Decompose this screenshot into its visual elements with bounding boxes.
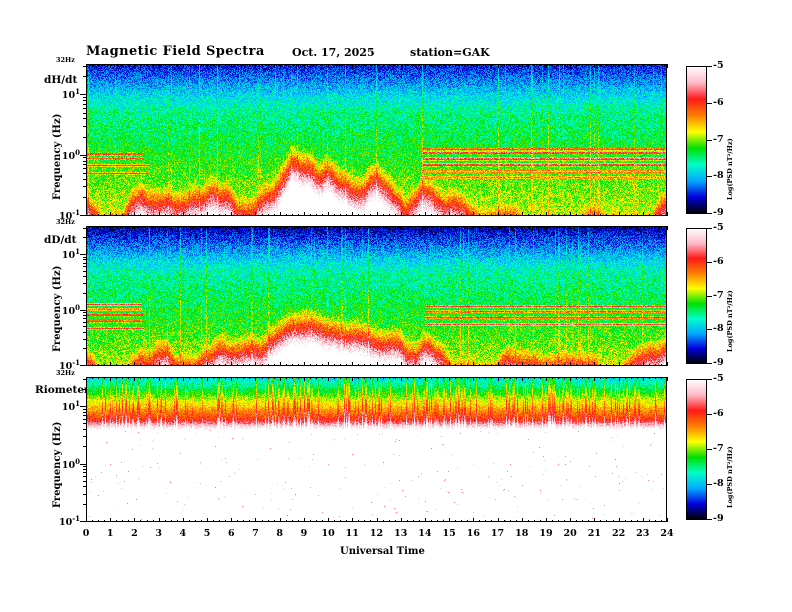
panel-1-xtick-minor	[316, 64, 317, 66]
panel-2-xtick-minor	[600, 226, 601, 228]
panel-3-xtick-minor	[655, 520, 656, 522]
panel-3-xtick-minor	[643, 377, 644, 379]
panel-1-ytick-major	[80, 94, 86, 95]
panel-2-xtick-minor	[322, 364, 323, 366]
panel-2-xtick-minor	[407, 226, 408, 228]
panel-3-xtick-minor	[528, 377, 529, 379]
panel-2-xtick-minor	[292, 364, 293, 366]
colorbar-3-tick	[707, 519, 712, 520]
panel-2-xtick-minor	[86, 364, 87, 366]
panel-3-xtick-minor	[600, 377, 601, 379]
panel-2-xtick-minor	[564, 364, 565, 366]
x-tick-label: 20	[560, 528, 580, 539]
panel-2-ytick-minor	[83, 348, 86, 349]
panel-1-xtick-minor	[364, 64, 365, 66]
panel-1-xtick-minor	[425, 214, 426, 216]
panel-3-xtick-minor	[219, 520, 220, 522]
panel-1-xtick-minor	[576, 64, 577, 66]
panel-3-xtick-minor	[479, 520, 480, 522]
panel-2-ytick-minor	[83, 263, 86, 264]
panel-3-xtick-minor	[661, 520, 662, 522]
panel-3-xtick-minor	[570, 377, 571, 379]
panel-3-xtick-minor	[413, 377, 414, 379]
panel-2-ytick-minor	[83, 271, 86, 272]
colorbar-3-tick	[707, 449, 712, 450]
panel-2-xtick-minor	[461, 364, 462, 366]
panel-2-xtick-minor	[128, 364, 129, 366]
colorbar-1-tick-label: -5	[713, 60, 724, 71]
panel-3-xtick-minor	[637, 377, 638, 379]
panel-1-xtick-minor	[358, 214, 359, 216]
panel-3-xtick-minor	[207, 377, 208, 379]
panel-1-xtick-minor	[207, 214, 208, 216]
panel-2-xtick-minor	[249, 364, 250, 366]
panel-1-xtick-minor	[401, 214, 402, 216]
panel-3-xtick-minor	[546, 520, 547, 522]
panel-2-xtick-minor	[92, 364, 93, 366]
panel-1-colorbar-frame	[686, 66, 707, 214]
panel-1-xtick-minor	[383, 214, 384, 216]
panel-3-xtick-minor	[370, 377, 371, 379]
panel-3-xtick-minor	[116, 377, 117, 379]
colorbar-1-tick	[707, 213, 712, 214]
panel-1-xtick-minor	[576, 214, 577, 216]
panel-2-xtick-minor	[667, 226, 668, 228]
panel-1-xtick-minor	[558, 64, 559, 66]
panel-2-ytick-label: 100	[56, 303, 80, 317]
x-tick-label: 8	[270, 528, 290, 539]
panel-2-xtick-minor	[116, 364, 117, 366]
panel-3-xtick-minor	[153, 520, 154, 522]
panel-3-xtick-minor	[316, 377, 317, 379]
panel-3-xtick-minor	[122, 520, 123, 522]
panel-3-xtick-minor	[358, 377, 359, 379]
panel-3-xtick-minor	[286, 377, 287, 379]
panel-1-frame	[86, 64, 667, 216]
panel-1-xtick-minor	[498, 64, 499, 66]
panel-3-xtick-minor	[140, 377, 141, 379]
panel-1-xtick-minor	[643, 214, 644, 216]
panel-3-xtick-minor	[201, 377, 202, 379]
panel-2-xtick-minor	[225, 364, 226, 366]
panel-3-xtick-minor	[443, 377, 444, 379]
panel-3-xtick-minor	[280, 520, 281, 522]
panel-1-xtick-minor	[540, 64, 541, 66]
panel-3-ytick-minor	[83, 415, 86, 416]
panel-2-xtick-minor	[443, 364, 444, 366]
panel-2-xtick-minor	[140, 364, 141, 366]
panel-2-xtick-minor	[268, 226, 269, 228]
panel-1-xtick-minor	[600, 214, 601, 216]
panel-2-xtick-minor	[431, 226, 432, 228]
panel-3-xtick-minor	[104, 377, 105, 379]
panel-1-xtick-minor	[467, 64, 468, 66]
panel-3-ytick-label: 100	[56, 457, 80, 471]
panel-1-xtick-minor	[528, 214, 529, 216]
panel-1-xtick-minor	[558, 214, 559, 216]
panel-1-xtick-minor	[249, 64, 250, 66]
panel-1-xtick-minor	[298, 214, 299, 216]
panel-1-xtick-minor	[304, 214, 305, 216]
panel-2-xtick-minor	[110, 364, 111, 366]
panel-3-xtick-minor	[352, 520, 353, 522]
panel-2-xtick-minor	[479, 226, 480, 228]
colorbar-3-tick-label: -6	[713, 408, 724, 419]
colorbar-2-tick-label: -5	[713, 222, 724, 233]
panel-3-ytick-minor	[83, 494, 86, 495]
panel-2-xtick-minor	[558, 226, 559, 228]
colorbar-1-tick	[707, 176, 712, 177]
panel-3-xtick-minor	[147, 520, 148, 522]
panel-2-colorbar-frame	[686, 228, 707, 364]
panel-1-xtick-minor	[147, 64, 148, 66]
panel-3-xtick-minor	[582, 520, 583, 522]
panel-2-xtick-minor	[582, 364, 583, 366]
panel-3-xtick-minor	[364, 377, 365, 379]
panel-3-xtick-minor	[510, 520, 511, 522]
panel-2-xtick-minor	[147, 226, 148, 228]
panel-3-xtick-minor	[552, 520, 553, 522]
panel-1-xtick-minor	[540, 214, 541, 216]
panel-2-xtick-minor	[159, 364, 160, 366]
panel-2-xtick-minor	[395, 226, 396, 228]
panel-3-xtick-minor	[122, 377, 123, 379]
panel-3-xtick-minor	[606, 520, 607, 522]
panel-3-xtick-minor	[286, 520, 287, 522]
panel-3-xtick-minor	[631, 377, 632, 379]
x-tick-label: 2	[124, 528, 144, 539]
panel-2-xtick-minor	[498, 226, 499, 228]
panel-1-xtick-minor	[92, 64, 93, 66]
panel-2-xtick-minor	[358, 226, 359, 228]
panel-1-xtick-minor	[594, 214, 595, 216]
panel-3-xtick-minor	[570, 520, 571, 522]
panel-3-xtick-minor	[213, 377, 214, 379]
panel-3-ytick-label: 10-1	[56, 514, 80, 528]
panel-3-xtick-minor	[655, 377, 656, 379]
panel-1-xtick-minor	[491, 214, 492, 216]
colorbar-2-tick	[707, 262, 712, 263]
panel-3-xtick-minor	[322, 520, 323, 522]
panel-2-xtick-minor	[437, 226, 438, 228]
panel-2-xtick-minor	[377, 364, 378, 366]
panel-2-xtick-minor	[370, 226, 371, 228]
panel-3-xtick-minor	[195, 377, 196, 379]
panel-2-ytick-minor	[83, 293, 86, 294]
panel-2-xtick-minor	[625, 226, 626, 228]
panel-1-xtick-minor	[479, 214, 480, 216]
panel-1-xtick-minor	[207, 64, 208, 66]
panel-3-xtick-minor	[419, 520, 420, 522]
panel-1-xtick-minor	[346, 64, 347, 66]
panel-1-xtick-minor	[606, 64, 607, 66]
panel-3-xtick-minor	[667, 520, 668, 522]
panel-1-xtick-minor	[128, 64, 129, 66]
panel-3-xtick-minor	[110, 520, 111, 522]
panel-2-xtick-minor	[491, 226, 492, 228]
panel-3-xtick-minor	[498, 520, 499, 522]
x-tick-label: 19	[536, 528, 556, 539]
panel-3-xtick-minor	[383, 520, 384, 522]
panel-2-xtick-minor	[364, 226, 365, 228]
panel-1-xtick-minor	[606, 214, 607, 216]
panel-2-xtick-minor	[564, 226, 565, 228]
panel-2-xtick-minor	[201, 226, 202, 228]
panel-2-xtick-minor	[86, 226, 87, 228]
panel-3-xtick-minor	[625, 377, 626, 379]
panel-2-xtick-minor	[243, 364, 244, 366]
panel-1-ytick-label: 101	[56, 87, 80, 101]
panel-3-xtick-minor	[177, 520, 178, 522]
colorbar-3-tick	[707, 379, 712, 380]
panel-3-xtick-minor	[177, 377, 178, 379]
panel-2-xtick-minor	[134, 226, 135, 228]
panel-2-xtick-minor	[255, 364, 256, 366]
x-tick-label: 16	[463, 528, 483, 539]
panel-2-xtick-minor	[473, 226, 474, 228]
panel-3-xtick-minor	[195, 520, 196, 522]
panel-2-xtick-minor	[298, 226, 299, 228]
panel-1-xtick-minor	[637, 64, 638, 66]
panel-3-xtick-minor	[147, 377, 148, 379]
panel-3-xtick-minor	[552, 377, 553, 379]
panel-1-nyquist-label: 32Hz	[56, 56, 75, 64]
panel-3-xtick-minor	[86, 377, 87, 379]
panel-1-xtick-minor	[322, 214, 323, 216]
panel-2-xtick-minor	[401, 364, 402, 366]
panel-3-xtick-minor	[449, 520, 450, 522]
panel-3-xtick-minor	[128, 377, 129, 379]
panel-1-xtick-minor	[395, 64, 396, 66]
colorbar-3-tick-label: -8	[713, 478, 724, 489]
panel-2-xtick-minor	[225, 226, 226, 228]
panel-1-xtick-minor	[631, 64, 632, 66]
panel-2-xtick-minor	[389, 226, 390, 228]
panel-1-xtick-minor	[189, 214, 190, 216]
panel-3-xtick-minor	[449, 377, 450, 379]
panel-1-xtick-minor	[619, 214, 620, 216]
panel-3-ytick-minor	[83, 504, 86, 505]
panel-1-ytick-minor	[83, 137, 86, 138]
panel-3-xtick-minor	[262, 520, 263, 522]
panel-1-colorbar-label: Log(PSD nT²/Hz)	[726, 138, 734, 200]
panel-1-ytick-minor	[83, 100, 86, 101]
panel-1-xtick-minor	[86, 64, 87, 66]
panel-1-ytick-minor	[83, 113, 86, 114]
panel-2-xtick-minor	[346, 226, 347, 228]
panel-1-xtick-minor	[449, 214, 450, 216]
panel-2-ytick-minor	[83, 259, 86, 260]
panel-3-xtick-minor	[522, 520, 523, 522]
x-tick-label: 7	[245, 528, 265, 539]
panel-2-xtick-minor	[243, 226, 244, 228]
panel-3-xtick-minor	[274, 377, 275, 379]
panel-1-xtick-minor	[510, 214, 511, 216]
panel-1-xtick-minor	[274, 64, 275, 66]
panel-3-xtick-minor	[594, 520, 595, 522]
panel-2-xtick-minor	[606, 226, 607, 228]
panel-2-xtick-minor	[449, 226, 450, 228]
panel-1-xtick-minor	[122, 64, 123, 66]
panel-2-xtick-minor	[637, 226, 638, 228]
panel-1-xtick-minor	[147, 214, 148, 216]
panel-2-xtick-minor	[516, 364, 517, 366]
panel-2-xtick-minor	[510, 364, 511, 366]
panel-3-xtick-minor	[588, 520, 589, 522]
x-tick-label: 13	[391, 528, 411, 539]
panel-2-xtick-minor	[346, 364, 347, 366]
panel-1-ytick-minor	[83, 104, 86, 105]
panel-3-xtick-minor	[576, 520, 577, 522]
panel-3-xtick-minor	[292, 377, 293, 379]
panel-3-xtick-minor	[249, 520, 250, 522]
colorbar-1-tick-label: -8	[713, 170, 724, 181]
panel-3-xtick-minor	[661, 377, 662, 379]
panel-2-xtick-minor	[588, 364, 589, 366]
x-tick-label: 17	[488, 528, 508, 539]
panel-3-label: Riometer	[35, 384, 90, 396]
x-tick-label: 1	[100, 528, 120, 539]
panel-1-xtick-minor	[286, 64, 287, 66]
panel-1-xtick-minor	[183, 64, 184, 66]
panel-1-xtick-minor	[667, 64, 668, 66]
panel-3-colorbar-frame	[686, 379, 707, 520]
panel-2-xtick-minor	[237, 364, 238, 366]
panel-2-xtick-minor	[213, 364, 214, 366]
panel-3-xtick-minor	[564, 377, 565, 379]
panel-2-xtick-minor	[370, 364, 371, 366]
panel-3-xtick-minor	[588, 377, 589, 379]
panel-1-xtick-minor	[631, 214, 632, 216]
panel-1-xtick-minor	[504, 64, 505, 66]
panel-2-xtick-minor	[292, 226, 293, 228]
panel-1-xtick-minor	[455, 64, 456, 66]
panel-3-xtick-minor	[165, 377, 166, 379]
panel-1-xtick-minor	[661, 64, 662, 66]
panel-2-xtick-minor	[467, 364, 468, 366]
panel-1-xtick-minor	[588, 214, 589, 216]
panel-3-xtick-minor	[231, 377, 232, 379]
panel-2-xtick-minor	[201, 364, 202, 366]
panel-3-xtick-minor	[153, 377, 154, 379]
panel-3-xtick-minor	[322, 377, 323, 379]
panel-3-nyquist-label: 32Hz	[56, 369, 75, 377]
x-tick-label: 12	[367, 528, 387, 539]
panel-2-xtick-minor	[631, 226, 632, 228]
panel-3-ytick-minor	[83, 446, 86, 447]
panel-2-xtick-minor	[649, 364, 650, 366]
panel-3-xtick-minor	[328, 520, 329, 522]
panel-3-xtick-minor	[401, 377, 402, 379]
panel-3-xtick-minor	[255, 520, 256, 522]
panel-2-xtick-minor	[171, 226, 172, 228]
figure-station: station=GAK	[410, 46, 490, 59]
panel-2-xtick-minor	[576, 226, 577, 228]
panel-2-xtick-minor	[473, 364, 474, 366]
panel-3-xtick-minor	[395, 520, 396, 522]
panel-2-xtick-minor	[122, 364, 123, 366]
panel-2-xtick-minor	[92, 226, 93, 228]
panel-1-xtick-minor	[262, 214, 263, 216]
panel-1-xtick-minor	[243, 214, 244, 216]
panel-3-xtick-minor	[280, 377, 281, 379]
panel-1-xtick-minor	[407, 64, 408, 66]
panel-2-xtick-minor	[419, 226, 420, 228]
panel-3-ytick-minor	[83, 423, 86, 424]
panel-3-xtick-minor	[249, 377, 250, 379]
panel-3-xtick-minor	[431, 377, 432, 379]
panel-2-xtick-minor	[540, 226, 541, 228]
panel-3-xtick-minor	[485, 377, 486, 379]
x-tick-label: 10	[318, 528, 338, 539]
panel-2-xtick-minor	[552, 364, 553, 366]
panel-3-xtick-minor	[201, 520, 202, 522]
panel-2-nyquist-label: 32Hz	[56, 218, 75, 226]
panel-2-xtick-minor	[425, 226, 426, 228]
panel-1-xtick-minor	[165, 214, 166, 216]
panel-1-xtick-minor	[625, 214, 626, 216]
panel-2-ytick-minor	[83, 266, 86, 267]
panel-1-xtick-minor	[534, 64, 535, 66]
panel-1-xtick-minor	[637, 214, 638, 216]
panel-2-xtick-minor	[177, 226, 178, 228]
panel-1-xtick-minor	[370, 64, 371, 66]
panel-2-xtick-minor	[189, 226, 190, 228]
panel-1-xtick-minor	[219, 64, 220, 66]
panel-1-xtick-minor	[153, 64, 154, 66]
panel-3-xtick-minor	[370, 520, 371, 522]
panel-3-xtick-minor	[540, 520, 541, 522]
panel-2-xtick-minor	[552, 226, 553, 228]
x-tick-label: 21	[584, 528, 604, 539]
panel-1-xtick-minor	[455, 214, 456, 216]
panel-2-xtick-minor	[546, 364, 547, 366]
panel-2-xtick-minor	[395, 364, 396, 366]
panel-2-ytick-major	[80, 254, 86, 255]
figure-date: Oct. 17, 2025	[292, 46, 375, 59]
panel-3-ytick-minor	[83, 389, 86, 390]
panel-3-xtick-minor	[407, 520, 408, 522]
panel-2-xtick-minor	[383, 364, 384, 366]
panel-2-xtick-minor	[165, 364, 166, 366]
panel-3-ytick-minor	[83, 481, 86, 482]
panel-1-xtick-minor	[116, 64, 117, 66]
panel-2-xtick-minor	[613, 226, 614, 228]
panel-2-ytick-minor	[83, 332, 86, 333]
x-tick-label: 14	[415, 528, 435, 539]
panel-1-xtick-minor	[310, 214, 311, 216]
panel-1-xtick-minor	[340, 64, 341, 66]
panel-1-xtick-minor	[298, 64, 299, 66]
panel-3-xtick-minor	[504, 377, 505, 379]
panel-1-xtick-minor	[340, 214, 341, 216]
panel-2-xtick-minor	[219, 226, 220, 228]
panel-1-xtick-minor	[153, 214, 154, 216]
panel-3-xtick-minor	[619, 377, 620, 379]
panel-2-xtick-minor	[510, 226, 511, 228]
panel-3-xtick-minor	[98, 377, 99, 379]
panel-1-xtick-minor	[98, 214, 99, 216]
panel-1-xtick-minor	[249, 214, 250, 216]
panel-3-xtick-minor	[183, 377, 184, 379]
panel-3-xtick-minor	[334, 377, 335, 379]
panel-2-xtick-minor	[661, 364, 662, 366]
panel-1-xtick-minor	[213, 214, 214, 216]
panel-3-xtick-minor	[171, 520, 172, 522]
panel-2-xtick-minor	[600, 364, 601, 366]
panel-3-xtick-minor	[189, 520, 190, 522]
panel-1-xtick-minor	[473, 64, 474, 66]
